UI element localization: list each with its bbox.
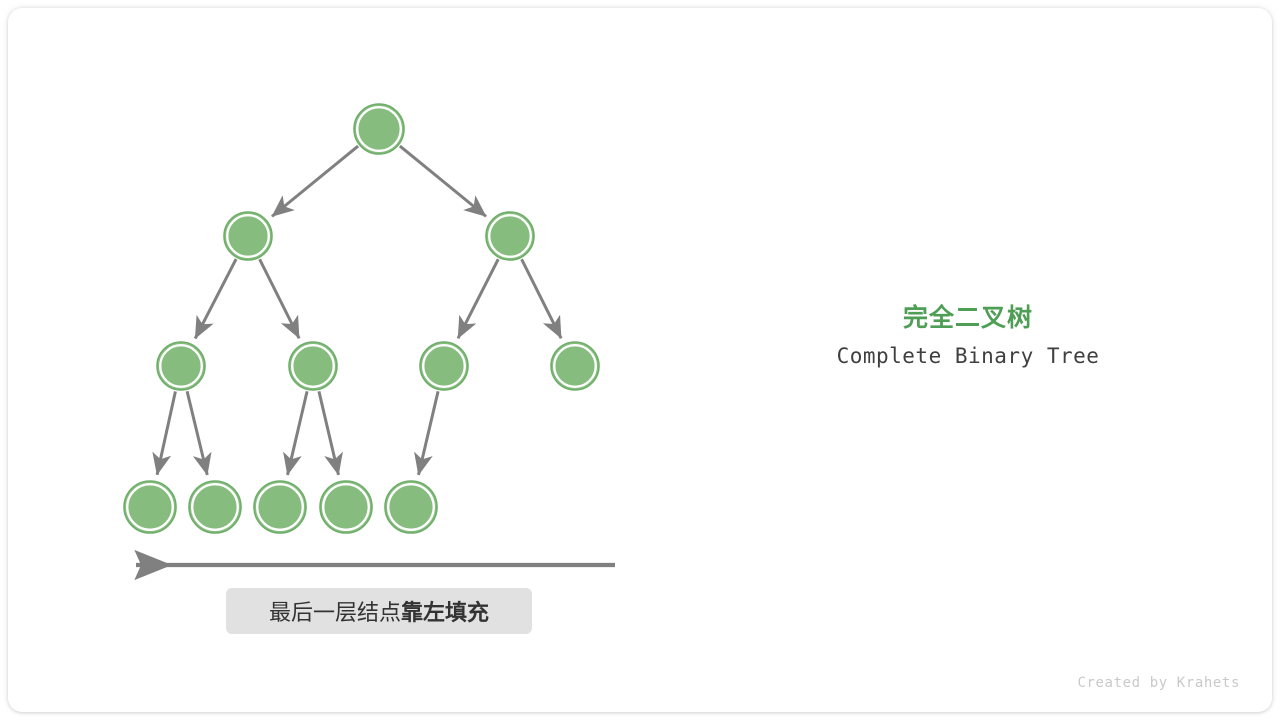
tree-node-core [390,486,433,529]
tree-edge [195,259,236,338]
caption-text-plain: 最后一层结点 [269,600,401,625]
tree-node[interactable] [385,481,437,533]
tree-node-core [294,347,333,386]
tree-edge [272,146,358,216]
tree-edge [400,146,486,216]
tree-edge [157,391,175,474]
tree-node-core [129,486,172,529]
tree-node-core [491,217,530,256]
tree-node[interactable] [224,212,272,260]
tree-node[interactable] [320,481,372,533]
diagram-canvas: 完全二叉树 Complete Binary Tree 最后一层结点靠左填充 Cr… [0,0,1280,720]
tree-node-core [325,486,368,529]
tree-node-core [229,217,268,256]
tree-node[interactable] [551,342,599,390]
tree-node[interactable] [354,104,404,154]
tree-edge [458,259,498,338]
tree-edge [319,391,339,475]
tree-node[interactable] [289,342,337,390]
tree-node-core [194,486,237,529]
tree-node[interactable] [189,481,241,533]
tree-node-core [359,109,400,150]
tree-node-group [124,104,599,533]
tree-node-core [556,347,595,386]
tree-node[interactable] [420,342,468,390]
caption-text: 最后一层结点靠左填充 [269,595,489,627]
tree-node-core [425,347,464,386]
caption-text-emphasis: 靠左填充 [401,600,489,625]
tree-node[interactable] [254,481,306,533]
tree-node[interactable] [124,481,176,533]
credit-text: Created by Krahets [940,675,1240,691]
tree-edge [187,391,207,475]
tree-node-core [259,486,302,529]
tree-edge [260,259,300,338]
tree-node[interactable] [157,342,205,390]
caption-badge: 最后一层结点靠左填充 [226,588,532,634]
title-chinese: 完全二叉树 [768,298,1168,334]
tree-edge [288,391,308,475]
tree-edge [522,259,562,338]
tree-edge-group [157,146,561,475]
tree-edge [419,391,439,475]
tree-node-core [162,347,201,386]
tree-node[interactable] [486,212,534,260]
title-english: Complete Binary Tree [768,344,1168,368]
